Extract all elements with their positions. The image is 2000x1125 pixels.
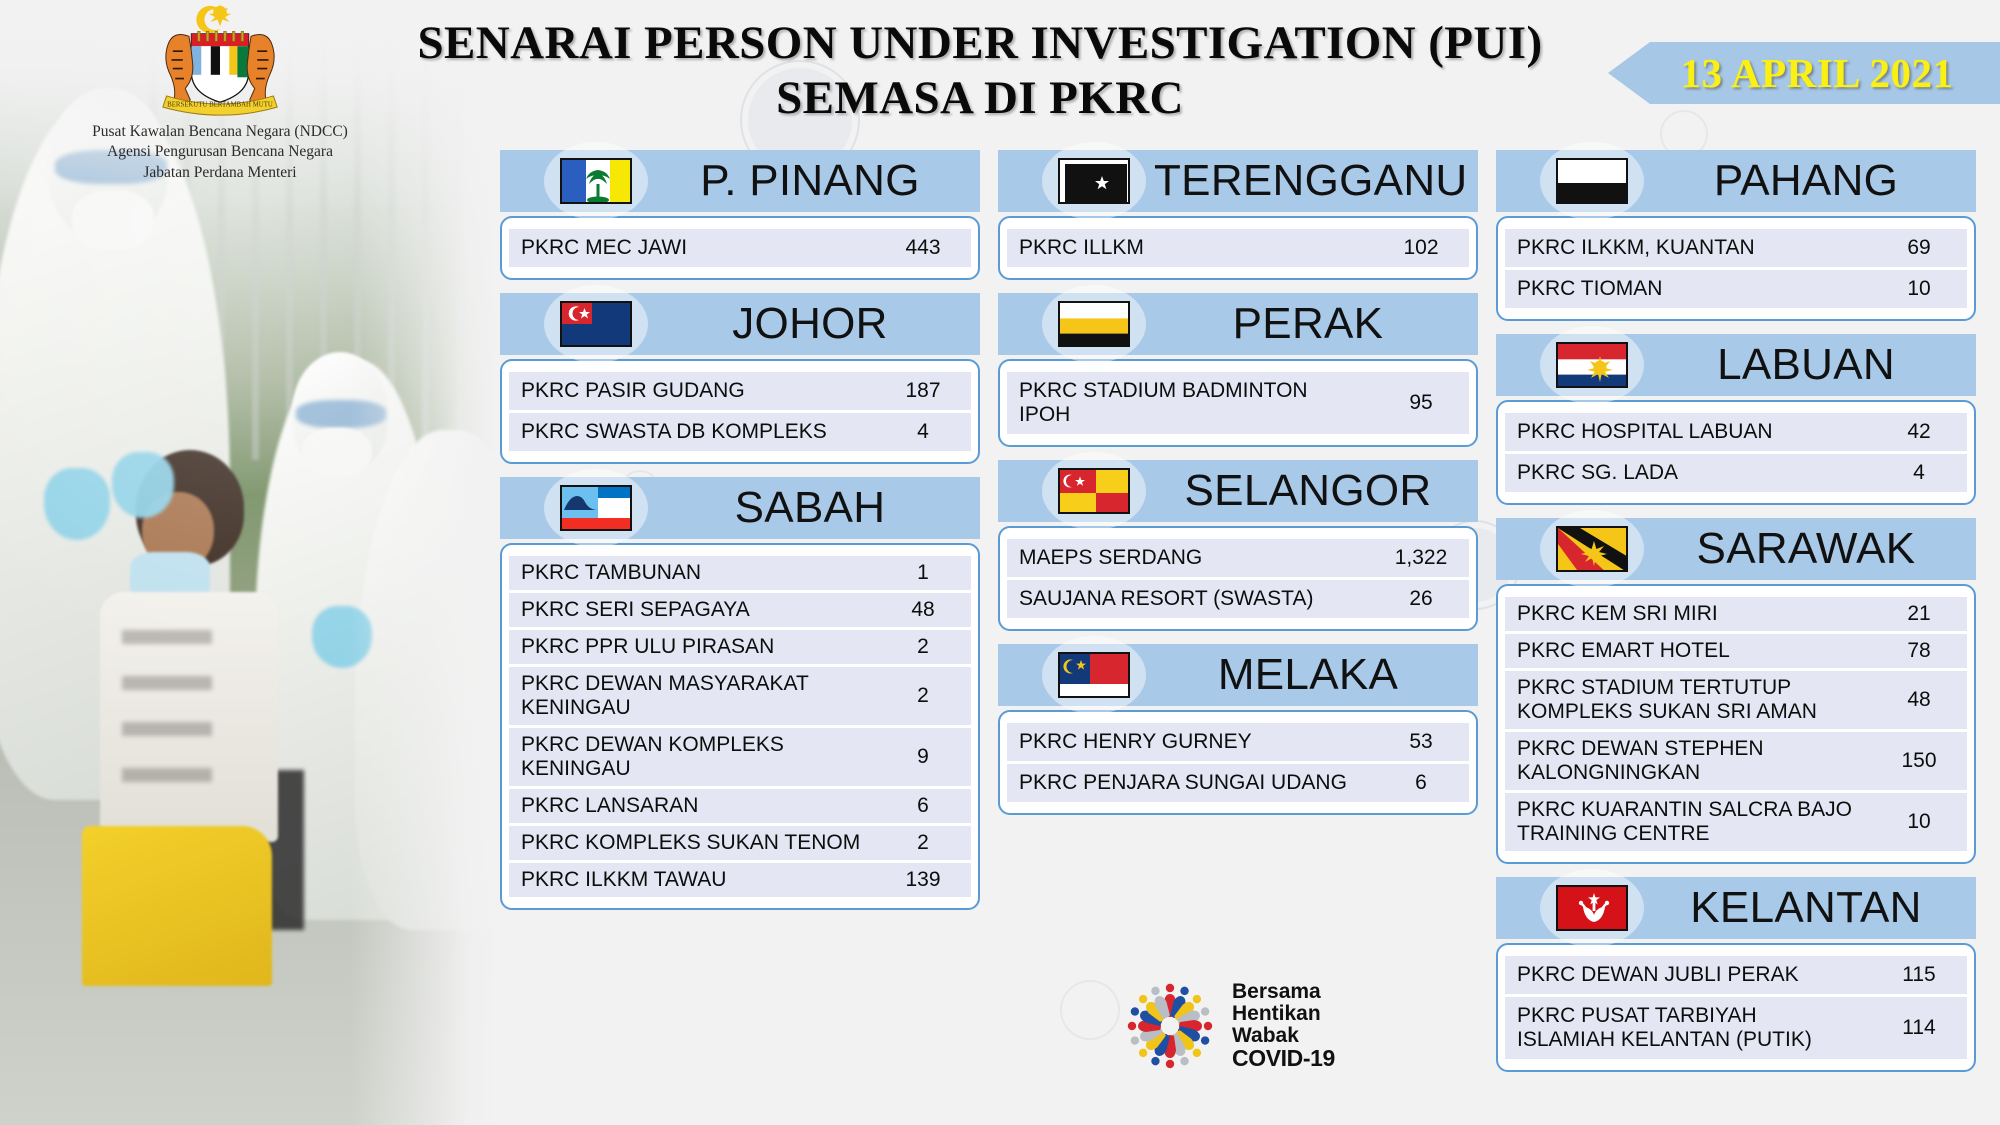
pkrc-name: PKRC EMART HOTEL: [1505, 634, 1871, 668]
state-name: PAHANG: [1652, 156, 1976, 206]
pkrc-name: PKRC SERI SEPAGAYA: [509, 593, 875, 627]
state-header: LABUAN: [1496, 334, 1976, 396]
state-table-card: PKRC PASIR GUDANG187PKRC SWASTA DB KOMPL…: [500, 359, 980, 464]
pkrc-table: PKRC STADIUM BADMINTON IPOH95: [1007, 369, 1469, 437]
campaign-line-4: COVID-19: [1232, 1047, 1335, 1071]
pkrc-count: 48: [1871, 671, 1967, 729]
pkrc-name: PKRC STADIUM BADMINTON IPOH: [1007, 372, 1373, 434]
flag-halo: [1042, 460, 1146, 522]
pkrc-count: 10: [1871, 793, 1967, 851]
pkrc-table: PKRC HENRY GURNEY53PKRC PENJARA SUNGAI U…: [1007, 720, 1469, 805]
pkrc-name: PKRC DEWAN STEPHEN KALONGNINGKAN: [1505, 732, 1871, 790]
table-row: PKRC ILLKM102: [1007, 229, 1469, 267]
johor-flag: [560, 301, 632, 347]
bersama-hentikan-wabak-icon: [1120, 976, 1220, 1076]
pkrc-name: PKRC PUSAT TARBIYAH ISLAMIAH KELANTAN (P…: [1505, 997, 1871, 1059]
state-name: JOHOR: [656, 299, 980, 349]
state-header: MELAKA: [998, 644, 1478, 706]
table-row: PKRC HENRY GURNEY53: [1007, 723, 1469, 761]
state-name: KELANTAN: [1652, 883, 1976, 933]
table-row: PKRC LANSARAN6: [509, 789, 971, 823]
pkrc-name: PKRC ILLKM: [1007, 229, 1373, 267]
state-header: SELANGOR: [998, 460, 1478, 522]
pkrc-count: 115: [1871, 956, 1967, 994]
svg-text:BERSEKUTU BERTAMBAH MUTU: BERSEKUTU BERTAMBAH MUTU: [167, 101, 273, 108]
campaign-line-1: Bersama: [1232, 981, 1335, 1003]
pkrc-count: 42: [1871, 413, 1967, 451]
pkrc-count: 6: [1373, 764, 1469, 802]
pkrc-count: 10: [1871, 270, 1967, 308]
state-name: PERAK: [1154, 299, 1478, 349]
state-header: SARAWAK: [1496, 518, 1976, 580]
pkrc-count: 2: [875, 630, 971, 664]
table-row: PKRC STADIUM BADMINTON IPOH95: [1007, 372, 1469, 434]
pkrc-table: PKRC ILKKM, KUANTAN69PKRC TIOMAN10: [1505, 226, 1967, 311]
melaka-flag: [1058, 652, 1130, 698]
state-block-labuan: LABUANPKRC HOSPITAL LABUAN42PKRC SG. LAD…: [1496, 334, 1976, 505]
pkrc-table: PKRC DEWAN JUBLI PERAK115PKRC PUSAT TARB…: [1505, 953, 1967, 1062]
table-row: PKRC HOSPITAL LABUAN42: [1505, 413, 1967, 451]
penang-flag: [560, 158, 632, 204]
flag-halo: [544, 150, 648, 212]
agency-line-1: Pusat Kawalan Bencana Negara (NDCC): [60, 122, 380, 142]
date-label: 13 APRIL 2021: [1654, 49, 1953, 97]
state-name: MELAKA: [1154, 650, 1478, 700]
pkrc-count: 6: [875, 789, 971, 823]
pkrc-count: 139: [875, 863, 971, 897]
pkrc-count: 187: [875, 372, 971, 410]
table-row: PKRC SERI SEPAGAYA48: [509, 593, 971, 627]
state-name: LABUAN: [1652, 340, 1976, 390]
flag-halo: [544, 477, 648, 539]
pkrc-count: 4: [1871, 454, 1967, 492]
pkrc-count: 150: [1871, 732, 1967, 790]
table-row: PKRC KOMPLEKS SUKAN TENOM2: [509, 826, 971, 860]
table-row: PKRC KEM SRI MIRI21: [1505, 597, 1967, 631]
state-header: JOHOR: [500, 293, 980, 355]
flag-halo: [1540, 877, 1644, 939]
pahang-flag: [1556, 158, 1628, 204]
agency-line-2: Agensi Pengurusan Bencana Negara: [60, 142, 380, 162]
pkrc-name: PKRC DEWAN KOMPLEKS KENINGAU: [509, 728, 875, 786]
table-row: PKRC STADIUM TERTUTUP KOMPLEKS SUKAN SRI…: [1505, 671, 1967, 729]
pkrc-count: 21: [1871, 597, 1967, 631]
pkrc-name: PKRC MEC JAWI: [509, 229, 875, 267]
pkrc-name: PKRC KEM SRI MIRI: [1505, 597, 1871, 631]
state-name: SARAWAK: [1652, 524, 1976, 574]
flag-halo: [1042, 293, 1146, 355]
page-title: SENARAI PERSON UNDER INVESTIGATION (PUI)…: [360, 16, 1600, 127]
pkrc-count: 4: [875, 413, 971, 451]
column-middle: TERENGGANUPKRC ILLKM102PERAKPKRC STADIUM…: [998, 150, 1478, 828]
state-header: PERAK: [998, 293, 1478, 355]
table-row: PKRC DEWAN JUBLI PERAK115: [1505, 956, 1967, 994]
state-table-card: PKRC HENRY GURNEY53PKRC PENJARA SUNGAI U…: [998, 710, 1478, 815]
state-header: P. PINANG: [500, 150, 980, 212]
table-row: PKRC PASIR GUDANG187: [509, 372, 971, 410]
table-row: PKRC ILKKM TAWAU139: [509, 863, 971, 897]
column-right: PAHANGPKRC ILKKM, KUANTAN69PKRC TIOMAN10…: [1496, 150, 1976, 1085]
pkrc-table: PKRC MEC JAWI443: [509, 226, 971, 270]
state-table-card: PKRC ILLKM102: [998, 216, 1478, 280]
pkrc-name: PKRC PPR ULU PIRASAN: [509, 630, 875, 664]
state-block-selangor: SELANGORMAEPS SERDANG1,322SAUJANA RESORT…: [998, 460, 1478, 631]
table-row: PKRC DEWAN MASYARAKAT KENINGAU2: [509, 667, 971, 725]
table-row: PKRC ILKKM, KUANTAN69: [1505, 229, 1967, 267]
sarawak-flag: [1556, 526, 1628, 572]
pkrc-name: PKRC TIOMAN: [1505, 270, 1871, 308]
state-table-card: PKRC KEM SRI MIRI21PKRC EMART HOTEL78PKR…: [1496, 584, 1976, 864]
state-block-sabah: SABAHPKRC TAMBUNAN1PKRC SERI SEPAGAYA48P…: [500, 477, 980, 910]
table-row: PKRC SG. LADA4: [1505, 454, 1967, 492]
state-table-card: PKRC DEWAN JUBLI PERAK115PKRC PUSAT TARB…: [1496, 943, 1976, 1072]
table-row: PKRC PPR ULU PIRASAN2: [509, 630, 971, 664]
state-table-card: PKRC MEC JAWI443: [500, 216, 980, 280]
table-row: PKRC DEWAN STEPHEN KALONGNINGKAN150: [1505, 732, 1967, 790]
state-block-sarawak: SARAWAKPKRC KEM SRI MIRI21PKRC EMART HOT…: [1496, 518, 1976, 864]
campaign-line-3: Wabak: [1232, 1025, 1335, 1047]
pkrc-count: 26: [1373, 580, 1469, 618]
page-header: BERSEKUTU BERTAMBAH MUTU Pusat Kawalan B…: [0, 0, 2000, 150]
state-block-terengganu: TERENGGANUPKRC ILLKM102: [998, 150, 1478, 280]
pkrc-name: PKRC PENJARA SUNGAI UDANG: [1007, 764, 1373, 802]
title-main-line: SENARAI PERSON UNDER INVESTIGATION (PUI): [360, 16, 1600, 71]
perak-flag: [1058, 301, 1130, 347]
flag-halo: [1540, 334, 1644, 396]
pkrc-table: MAEPS SERDANG1,322SAUJANA RESORT (SWASTA…: [1007, 536, 1469, 621]
state-block-p-pinang: P. PINANGPKRC MEC JAWI443: [500, 150, 980, 280]
table-row: SAUJANA RESORT (SWASTA)26: [1007, 580, 1469, 618]
pkrc-count: 95: [1373, 372, 1469, 434]
state-block-melaka: MELAKAPKRC HENRY GURNEY53PKRC PENJARA SU…: [998, 644, 1478, 815]
pkrc-name: PKRC SWASTA DB KOMPLEKS: [509, 413, 875, 451]
pkrc-table: PKRC PASIR GUDANG187PKRC SWASTA DB KOMPL…: [509, 369, 971, 454]
pkrc-count: 1: [875, 556, 971, 590]
table-row: PKRC PENJARA SUNGAI UDANG6: [1007, 764, 1469, 802]
state-block-kelantan: KELANTANPKRC DEWAN JUBLI PERAK115PKRC PU…: [1496, 877, 1976, 1072]
pkrc-count: 443: [875, 229, 971, 267]
state-table-card: PKRC HOSPITAL LABUAN42PKRC SG. LADA4: [1496, 400, 1976, 505]
pkrc-name: PKRC SG. LADA: [1505, 454, 1871, 492]
pkrc-count: 1,322: [1373, 539, 1469, 577]
table-row: PKRC TAMBUNAN1: [509, 556, 971, 590]
table-row: PKRC EMART HOTEL78: [1505, 634, 1967, 668]
pkrc-table: PKRC KEM SRI MIRI21PKRC EMART HOTEL78PKR…: [1505, 594, 1967, 854]
terengganu-flag: [1058, 158, 1130, 204]
pkrc-table: PKRC ILLKM102: [1007, 226, 1469, 270]
table-row: PKRC PUSAT TARBIYAH ISLAMIAH KELANTAN (P…: [1505, 997, 1967, 1059]
table-row: PKRC SWASTA DB KOMPLEKS4: [509, 413, 971, 451]
selangor-flag: [1058, 468, 1130, 514]
table-row: PKRC MEC JAWI443: [509, 229, 971, 267]
pkrc-name: MAEPS SERDANG: [1007, 539, 1373, 577]
pkrc-count: 53: [1373, 723, 1469, 761]
flag-halo: [1540, 518, 1644, 580]
table-row: PKRC DEWAN KOMPLEKS KENINGAU9: [509, 728, 971, 786]
state-block-johor: JOHORPKRC PASIR GUDANG187PKRC SWASTA DB …: [500, 293, 980, 464]
column-left: P. PINANGPKRC MEC JAWI443JOHORPKRC PASIR…: [500, 150, 980, 923]
pkrc-table: PKRC TAMBUNAN1PKRC SERI SEPAGAYA48PKRC P…: [509, 553, 971, 900]
pkrc-name: PKRC TAMBUNAN: [509, 556, 875, 590]
pkrc-count: 114: [1871, 997, 1967, 1059]
malaysia-coat-of-arms-icon: BERSEKUTU BERTAMBAH MUTU: [145, 4, 295, 122]
agency-identity: BERSEKUTU BERTAMBAH MUTU Pusat Kawalan B…: [60, 4, 380, 183]
pkrc-name: PKRC HENRY GURNEY: [1007, 723, 1373, 761]
pkrc-name: PKRC ILKKM TAWAU: [509, 863, 875, 897]
agency-line-3: Jabatan Perdana Menteri: [60, 163, 380, 183]
pkrc-name: PKRC ILKKM, KUANTAN: [1505, 229, 1871, 267]
labuan-flag: [1556, 342, 1628, 388]
campaign-line-2: Hentikan: [1232, 1003, 1335, 1025]
pkrc-name: PKRC KUARANTIN SALCRA BAJO TRAINING CENT…: [1505, 793, 1871, 851]
state-table-card: PKRC ILKKM, KUANTAN69PKRC TIOMAN10: [1496, 216, 1976, 321]
table-row: MAEPS SERDANG1,322: [1007, 539, 1469, 577]
pkrc-count: 102: [1373, 229, 1469, 267]
state-header: KELANTAN: [1496, 877, 1976, 939]
state-header: SABAH: [500, 477, 980, 539]
pkrc-table: PKRC HOSPITAL LABUAN42PKRC SG. LADA4: [1505, 410, 1967, 495]
pkrc-count: 2: [875, 826, 971, 860]
kelantan-flag: [1556, 885, 1628, 931]
state-name: TERENGGANU: [1154, 156, 1483, 206]
pkrc-name: PKRC HOSPITAL LABUAN: [1505, 413, 1871, 451]
title-sub-line: SEMASA DI PKRC: [360, 71, 1600, 126]
flag-halo: [544, 293, 648, 355]
state-header: TERENGGANU: [998, 150, 1478, 212]
campaign-logo: Bersama Hentikan Wabak COVID-19: [1120, 975, 1370, 1077]
state-header: PAHANG: [1496, 150, 1976, 212]
pkrc-name: PKRC PASIR GUDANG: [509, 372, 875, 410]
pkrc-name: PKRC KOMPLEKS SUKAN TENOM: [509, 826, 875, 860]
date-banner: 13 APRIL 2021: [1608, 42, 2000, 104]
state-columns: P. PINANGPKRC MEC JAWI443JOHORPKRC PASIR…: [0, 150, 2000, 1125]
pkrc-name: PKRC STADIUM TERTUTUP KOMPLEKS SUKAN SRI…: [1505, 671, 1871, 729]
flag-halo: [1540, 150, 1644, 212]
state-block-pahang: PAHANGPKRC ILKKM, KUANTAN69PKRC TIOMAN10: [1496, 150, 1976, 321]
campaign-wordmark: Bersama Hentikan Wabak COVID-19: [1232, 981, 1335, 1070]
state-name: P. PINANG: [656, 156, 980, 206]
pkrc-count: 48: [875, 593, 971, 627]
pkrc-name: SAUJANA RESORT (SWASTA): [1007, 580, 1373, 618]
state-table-card: MAEPS SERDANG1,322SAUJANA RESORT (SWASTA…: [998, 526, 1478, 631]
pkrc-name: PKRC DEWAN MASYARAKAT KENINGAU: [509, 667, 875, 725]
pkrc-count: 2: [875, 667, 971, 725]
pkrc-count: 78: [1871, 634, 1967, 668]
sabah-flag: [560, 485, 632, 531]
state-table-card: PKRC STADIUM BADMINTON IPOH95: [998, 359, 1478, 447]
pkrc-count: 69: [1871, 229, 1967, 267]
pkrc-name: PKRC DEWAN JUBLI PERAK: [1505, 956, 1871, 994]
flag-halo: [1042, 150, 1146, 212]
pkrc-name: PKRC LANSARAN: [509, 789, 875, 823]
state-name: SABAH: [656, 483, 980, 533]
state-block-perak: PERAKPKRC STADIUM BADMINTON IPOH95: [998, 293, 1478, 447]
flag-halo: [1042, 644, 1146, 706]
table-row: PKRC TIOMAN10: [1505, 270, 1967, 308]
table-row: PKRC KUARANTIN SALCRA BAJO TRAINING CENT…: [1505, 793, 1967, 851]
pkrc-count: 9: [875, 728, 971, 786]
state-name: SELANGOR: [1154, 466, 1478, 516]
state-table-card: PKRC TAMBUNAN1PKRC SERI SEPAGAYA48PKRC P…: [500, 543, 980, 910]
